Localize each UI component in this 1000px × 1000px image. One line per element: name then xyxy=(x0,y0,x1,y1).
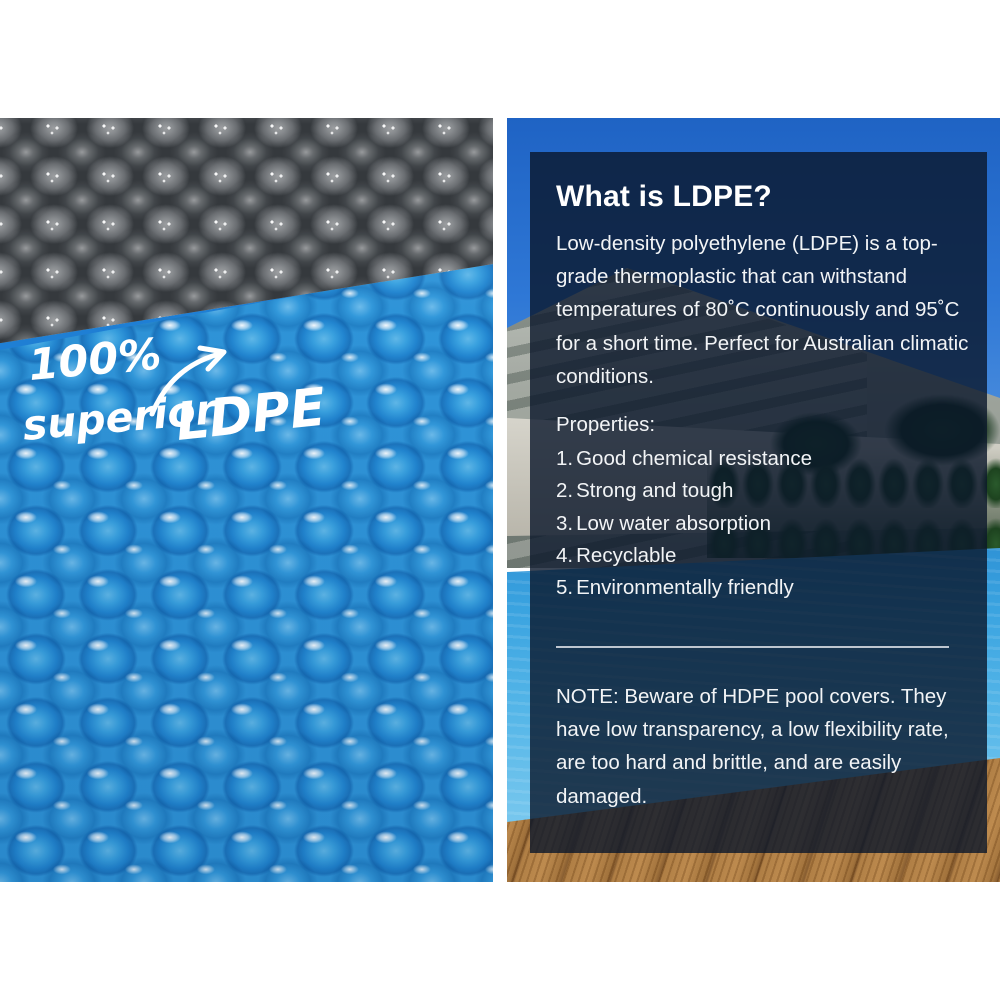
list-item: 1. Good chemical resistance xyxy=(556,443,976,475)
section-divider xyxy=(556,646,949,648)
description-paragraph: Low-density polyethylene (LDPE) is a top… xyxy=(556,227,976,393)
list-item: 4. Recyclable xyxy=(556,540,976,572)
list-item-label: Strong and tough xyxy=(576,475,733,507)
list-item-number: 4. xyxy=(556,540,573,572)
list-item-number: 5. xyxy=(556,572,573,604)
properties-label: Properties: xyxy=(556,409,976,441)
list-item-number: 2. xyxy=(556,475,573,507)
list-item-label: Good chemical resistance xyxy=(576,443,812,475)
list-item: 3. Low water absorption xyxy=(556,508,976,540)
infographic-canvas: 100% superior LDPE What is LDPE? Low-den… xyxy=(0,0,1000,1000)
note-text: NOTE: Beware of HDPE pool covers. They h… xyxy=(556,680,966,813)
properties-list: 1. Good chemical resistance 2. Strong an… xyxy=(556,443,976,605)
note-section: NOTE: Beware of HDPE pool covers. They h… xyxy=(556,680,966,813)
info-card-content: What is LDPE? Low-density polyethylene (… xyxy=(556,180,976,605)
page-title: What is LDPE? xyxy=(556,180,976,213)
list-item: 5. Environmentally friendly xyxy=(556,572,976,604)
list-item-label: Environmentally friendly xyxy=(576,572,794,604)
list-item-label: Recyclable xyxy=(576,540,676,572)
description-panel: What is LDPE? Low-density polyethylene (… xyxy=(507,118,1000,882)
material-photo-panel: 100% superior LDPE xyxy=(0,118,493,882)
list-item-number: 1. xyxy=(556,443,573,475)
list-item-number: 3. xyxy=(556,508,573,540)
list-item: 2. Strong and tough xyxy=(556,475,976,507)
list-item-label: Low water absorption xyxy=(576,508,771,540)
